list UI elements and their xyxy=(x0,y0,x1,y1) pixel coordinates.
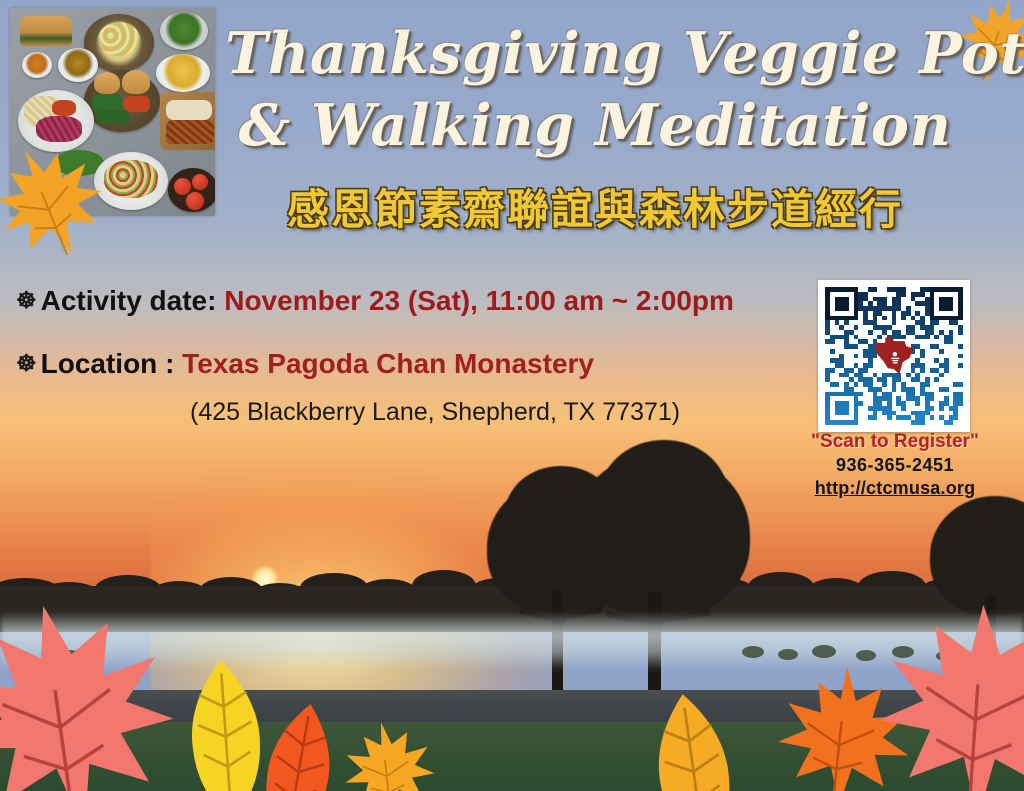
qr-code-card[interactable] xyxy=(818,280,970,432)
location-label: Location : xyxy=(41,348,175,379)
location-address: (425 Blackberry Lane, Shepherd, TX 77371… xyxy=(190,398,680,427)
texas-state-logo xyxy=(872,335,916,377)
poster-flyer: Thanksgiving Veggie Potluck & Walking Me… xyxy=(0,0,1024,791)
phone-number: 936-365-2451 xyxy=(795,455,995,476)
maple-leaf-bottom-gold xyxy=(325,712,447,791)
activity-date-value: November 23 (Sat), 11:00 am ~ 2:00pm xyxy=(224,285,734,316)
scan-to-register-caption: "Scan to Register" xyxy=(795,431,995,453)
dharma-wheel-icon: ☸ xyxy=(16,287,37,313)
dharma-wheel-icon: ☸ xyxy=(16,350,37,376)
poster-title: Thanksgiving Veggie Potluck & Walking Me… xyxy=(225,18,965,162)
title-line-2: & Walking Meditation xyxy=(225,90,965,162)
location-line: ☸Location : Texas Pagoda Chan Monastery xyxy=(16,348,594,380)
maple-leaf-bottom-right-salmon xyxy=(853,592,1024,791)
activity-date-label: Activity date: xyxy=(41,285,217,316)
poster-subtitle-chinese: 感恩節素齋聯誼與森林步道經行 xyxy=(225,184,965,236)
activity-date-line: ☸Activity date: November 23 (Sat), 11:00… xyxy=(16,285,734,317)
title-line-1: Thanksgiving Veggie Potluck xyxy=(225,18,965,90)
maple-leaf-bottom-left-salmon xyxy=(0,584,199,791)
location-value: Texas Pagoda Chan Monastery xyxy=(182,348,594,379)
website-url[interactable]: http://ctcmusa.org xyxy=(795,478,995,499)
